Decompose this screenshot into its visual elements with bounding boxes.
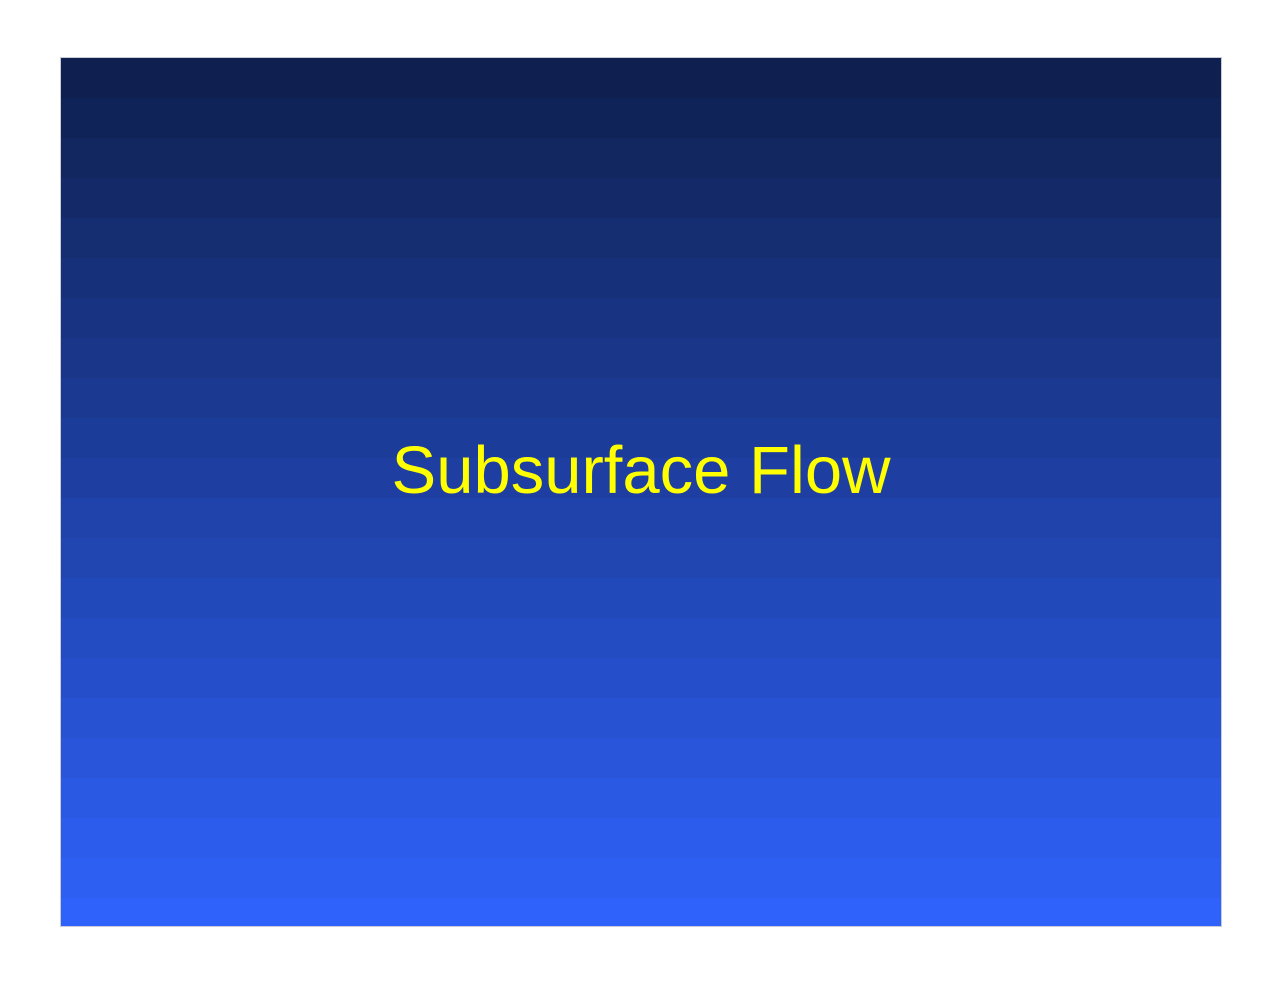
- gradient-band: [61, 418, 1221, 458]
- gradient-band: [61, 378, 1221, 418]
- gradient-band: [61, 578, 1221, 618]
- gradient-band: [61, 618, 1221, 658]
- gradient-band: [61, 738, 1221, 778]
- slide-background-gradient: [61, 58, 1221, 926]
- gradient-band: [61, 98, 1221, 138]
- gradient-band: [61, 178, 1221, 218]
- gradient-band: [61, 218, 1221, 258]
- gradient-band: [61, 338, 1221, 378]
- gradient-band: [61, 898, 1221, 927]
- gradient-band: [61, 298, 1221, 338]
- gradient-band: [61, 138, 1221, 178]
- presentation-slide: Subsurface Flow: [60, 57, 1222, 927]
- gradient-band: [61, 658, 1221, 698]
- page-root: Subsurface Flow: [0, 0, 1280, 989]
- gradient-band: [61, 698, 1221, 738]
- gradient-band: [61, 258, 1221, 298]
- gradient-band: [61, 858, 1221, 898]
- gradient-band: [61, 58, 1221, 98]
- gradient-band: [61, 458, 1221, 498]
- gradient-band: [61, 778, 1221, 818]
- gradient-band: [61, 498, 1221, 538]
- gradient-band: [61, 818, 1221, 858]
- gradient-band: [61, 538, 1221, 578]
